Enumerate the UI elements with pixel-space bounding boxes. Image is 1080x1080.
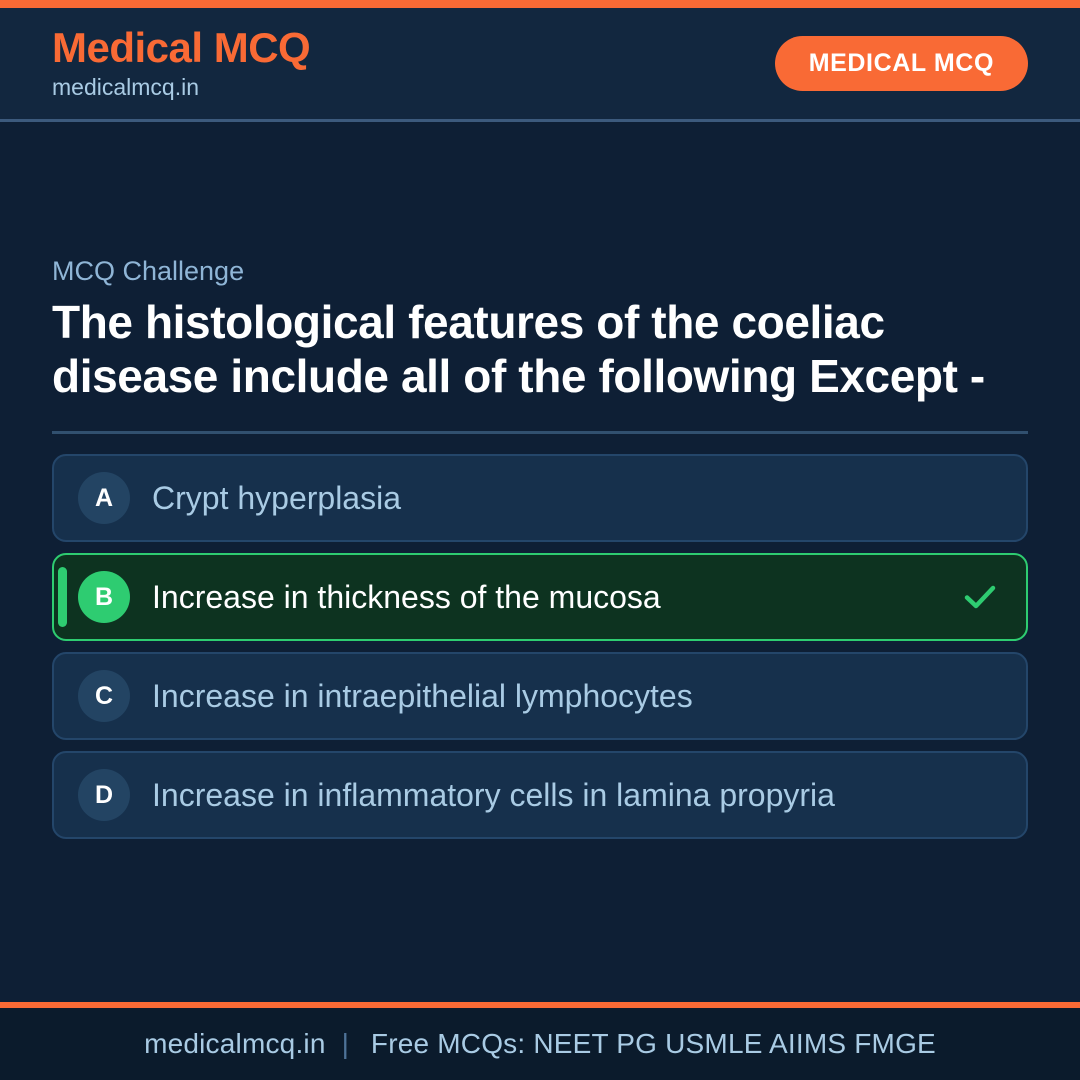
- option-label: Increase in thickness of the mucosa: [152, 580, 944, 616]
- top-accent-strip: [0, 0, 1080, 8]
- footer-exams: Free MCQs: NEET PG USMLE AIIMS FMGE: [365, 1028, 936, 1060]
- option-badge: B: [78, 571, 130, 623]
- brand-subtitle: medicalmcq.in: [52, 73, 310, 102]
- option-label: Increase in intraepithelial lymphocytes: [152, 679, 1000, 715]
- header: Medical MCQ medicalmcq.in MEDICAL MCQ: [0, 8, 1080, 122]
- option-d[interactable]: D Increase in inflammatory cells in lami…: [52, 751, 1028, 839]
- options-list: A Crypt hyperplasia B Increase in thickn…: [52, 454, 1028, 839]
- option-a[interactable]: A Crypt hyperplasia: [52, 454, 1028, 542]
- brand: Medical MCQ medicalmcq.in: [52, 25, 310, 101]
- option-badge: A: [78, 472, 130, 524]
- divider: [52, 431, 1028, 434]
- main-content: MCQ Challenge The histological features …: [0, 122, 1080, 1002]
- footer-site: medicalmcq.in: [144, 1028, 326, 1060]
- option-label: Increase in inflammatory cells in lamina…: [152, 778, 1000, 814]
- question-text: The histological features of the coeliac…: [52, 295, 1012, 404]
- option-badge: D: [78, 769, 130, 821]
- check-icon: [960, 577, 1000, 617]
- footer: medicalmcq.in | Free MCQs: NEET PG USMLE…: [0, 1008, 1080, 1080]
- eyebrow-label: MCQ Challenge: [52, 255, 1028, 287]
- header-badge: MEDICAL MCQ: [775, 36, 1028, 91]
- brand-title: Medical MCQ: [52, 25, 310, 70]
- option-label: Crypt hyperplasia: [152, 481, 1000, 517]
- mcq-card: Medical MCQ medicalmcq.in MEDICAL MCQ MC…: [0, 0, 1080, 1080]
- option-badge: C: [78, 670, 130, 722]
- correct-accent-bar: [58, 567, 67, 627]
- footer-separator: |: [326, 1028, 365, 1060]
- option-b[interactable]: B Increase in thickness of the mucosa: [52, 553, 1028, 641]
- option-c[interactable]: C Increase in intraepithelial lymphocyte…: [52, 652, 1028, 740]
